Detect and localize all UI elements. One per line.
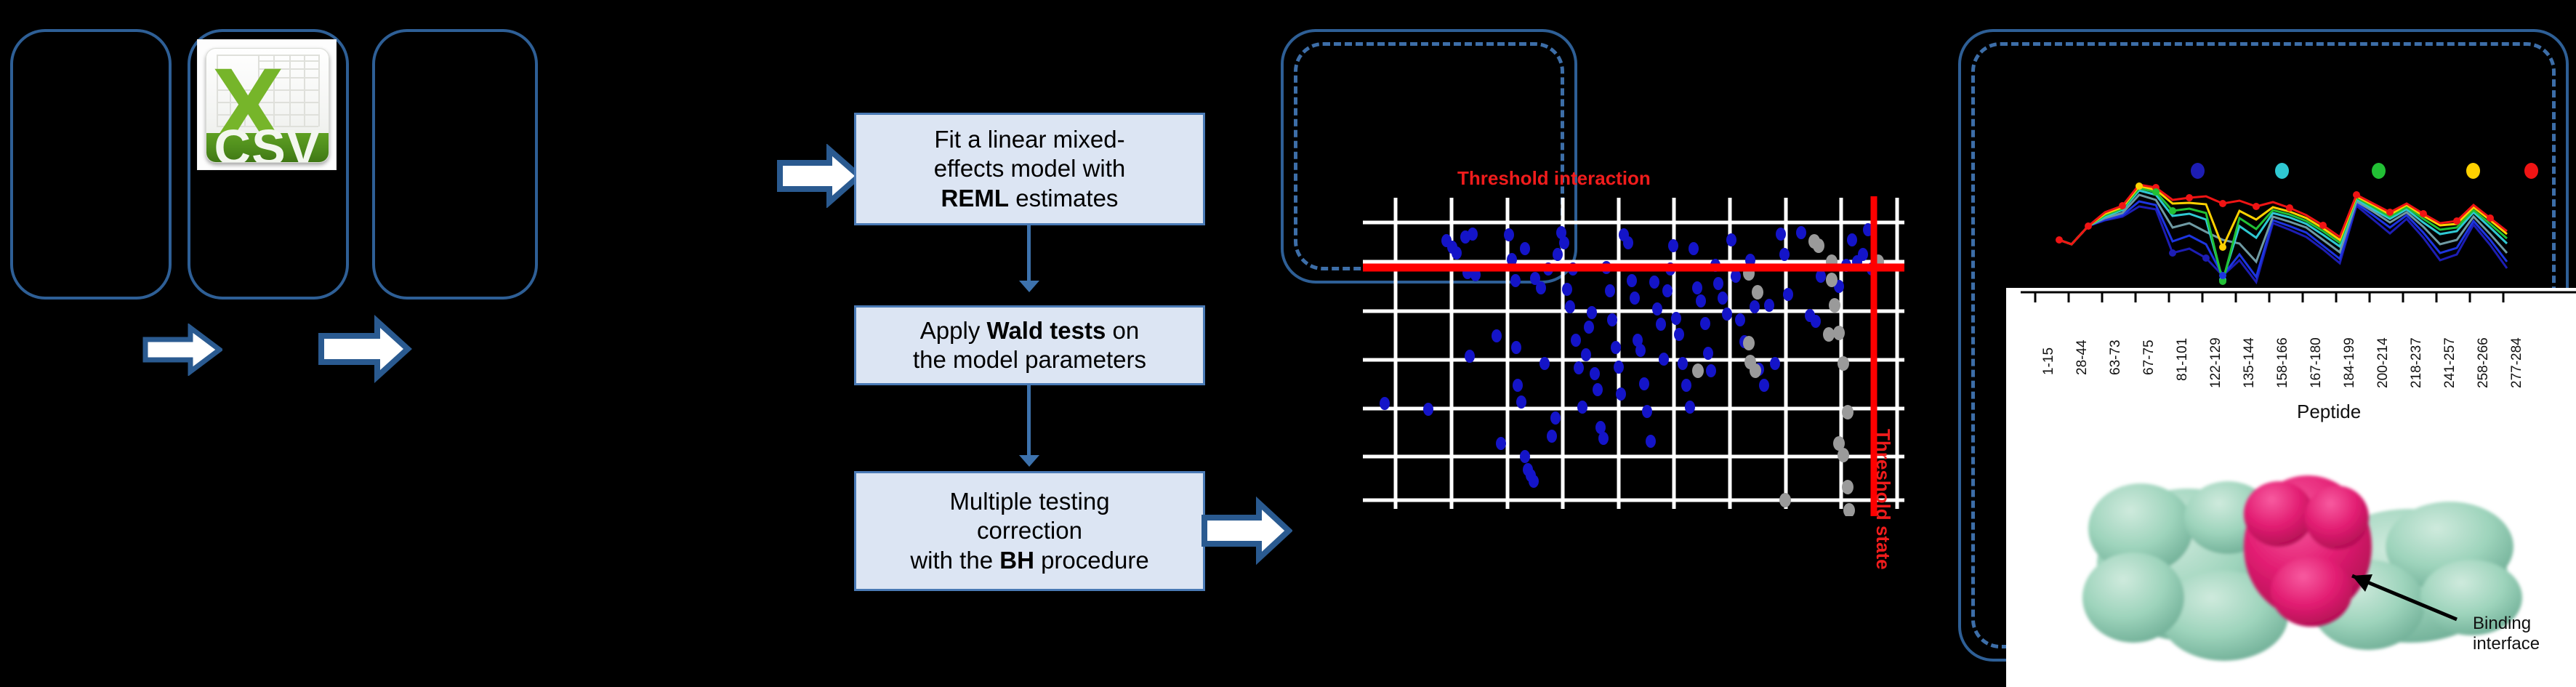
binding-interface-caption-line-2: interface [2473, 634, 2540, 654]
legend-dot-red [2524, 163, 2538, 179]
fit-model-line-2: effects model with [934, 155, 1126, 182]
peptide-tick-7: 158-166 [2275, 337, 2291, 388]
bh-line-2: correction [977, 517, 1082, 544]
connector-model-to-wald [1027, 225, 1031, 282]
peptide-tick-5: 122-129 [2208, 337, 2224, 388]
multiple-testing-box: Multiple testing correction with the BH … [854, 471, 1205, 591]
csv-icon-letter: X [212, 52, 262, 111]
connector-wald-to-bh-arrowhead [1019, 455, 1039, 467]
peptide-axis [2006, 288, 2576, 310]
peptide-tick-3: 67-75 [2141, 340, 2157, 375]
legend-dot-yellow [2466, 163, 2480, 179]
scatter-plot: Threshold interaction [1330, 153, 1912, 516]
csv-file-icon: X CSV [198, 40, 336, 169]
bh-line-1: Multiple testing [949, 488, 1109, 515]
fit-model-line-3-rest: estimates [1009, 185, 1118, 212]
arrow-into-stage-1 [142, 324, 222, 376]
peptide-tick-1: 28-44 [2074, 340, 2090, 375]
peptide-profile-markers [2056, 182, 2494, 285]
fit-model-emphasis: REML [941, 185, 1010, 212]
bh-line-3-a: with the [910, 547, 999, 574]
peptide-tick-2: 63-73 [2108, 340, 2124, 375]
peptide-tick-8: 167-180 [2309, 337, 2325, 388]
peptide-profile-lines [1992, 131, 2573, 298]
stage-panel-input [10, 29, 172, 300]
fit-model-box: Fit a linear mixed- effects model with R… [854, 113, 1205, 225]
arrow-csv-to-model [777, 144, 863, 208]
peptide-tick-6: 135-144 [2242, 337, 2258, 388]
scatter-threshold-state-label: Threshold state [1872, 429, 1894, 570]
wald-line-1-a: Apply [920, 317, 987, 344]
structure-figure-card: 1-15 28-44 63-73 67-75 81-101 122-129 13… [2006, 288, 2576, 687]
wald-emphasis: Wald tests [987, 317, 1106, 344]
peptide-tick-10: 200-214 [2375, 337, 2391, 388]
binding-interface-caption-line-1: Binding [2473, 614, 2540, 634]
peptide-axis-label: Peptide [2297, 401, 2361, 423]
peptide-tick-14: 277-284 [2509, 337, 2525, 388]
csv-icon-band: CSV [206, 133, 328, 163]
fit-model-line-1: Fit a linear mixed- [934, 126, 1124, 153]
stage-panel-statistics [372, 29, 538, 300]
wald-line-1-c: on [1106, 317, 1139, 344]
scatter-points-secondary [1692, 234, 1884, 516]
peptide-tick-12: 241-257 [2442, 337, 2458, 388]
wald-line-2: the model parameters [913, 346, 1146, 373]
arrow-stage1-to-csv [318, 314, 412, 384]
peptide-tick-11: 218-237 [2409, 337, 2425, 388]
bh-line-3-c: procedure [1034, 547, 1149, 574]
peptide-profile-chart [1992, 131, 2573, 298]
peptide-tick-0: 1-15 [2041, 347, 2057, 375]
csv-icon-body: X CSV [206, 48, 329, 164]
legend-dot-cyan [2275, 163, 2289, 179]
peptide-tick-13: 258-266 [2476, 337, 2492, 388]
binding-interface-caption: Binding interface [2473, 614, 2540, 654]
connector-wald-to-bh [1027, 385, 1031, 457]
bh-emphasis: BH [999, 547, 1034, 574]
peptide-tick-4: 81-101 [2175, 338, 2191, 381]
connector-model-to-wald-arrowhead [1019, 281, 1039, 292]
legend-dot-green [2372, 163, 2386, 179]
legend-dot-blue [2191, 163, 2205, 179]
csv-icon-band-label: CSV [214, 118, 321, 163]
wald-tests-box: Apply Wald tests on the model parameters [854, 305, 1205, 385]
peptide-tick-9: 184-199 [2342, 337, 2358, 388]
arrow-stats-to-scatter [1201, 496, 1292, 566]
